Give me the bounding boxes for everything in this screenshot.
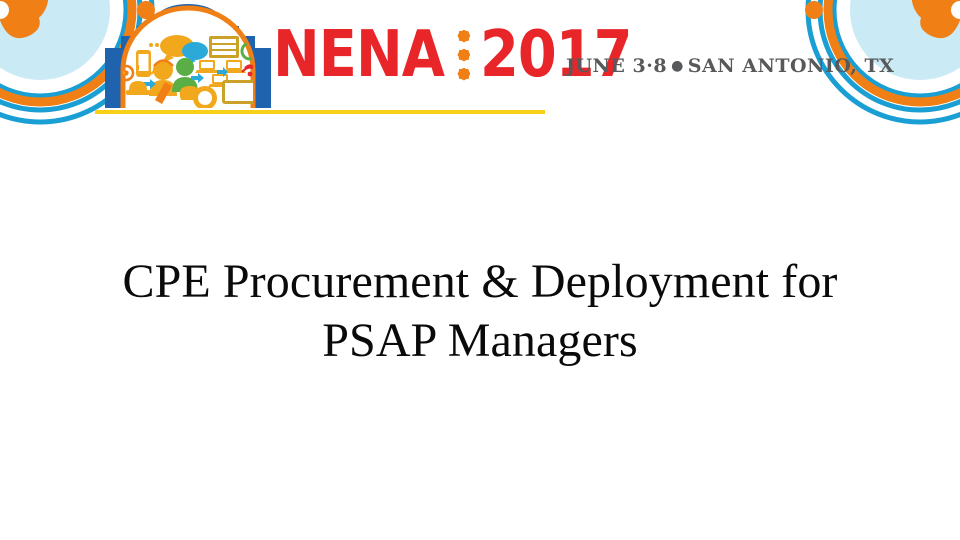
page-title-line-2: PSAP Managers	[60, 311, 900, 370]
page-title-line-1: CPE Procurement & Deployment for	[60, 252, 900, 311]
event-date-location: JUNE 3·8●SAN ANTONIO, TX	[566, 57, 894, 76]
nena-2017-logo: NENA 2017	[95, 4, 555, 116]
event-location: SAN ANTONIO, TX	[688, 55, 895, 77]
wordmark-nena: NENA	[273, 23, 444, 87]
event-dates: JUNE 3·8	[566, 55, 667, 77]
logo-underline-rule	[95, 110, 545, 114]
slide-header-banner: NENA 2017 JUNE 3·8●SAN ANTONIO, TX	[0, 0, 960, 128]
wordmark-dot-separator-icon	[453, 30, 474, 81]
page-title: CPE Procurement & Deployment for PSAP Ma…	[60, 252, 900, 370]
presentation-slide: NENA 2017 JUNE 3·8●SAN ANTONIO, TX CPE P…	[0, 0, 960, 540]
alamo-arch-technology-icons-icon	[95, 4, 281, 108]
slide-content-area: CPE Procurement & Deployment for PSAP Ma…	[0, 128, 960, 540]
event-meta-bullet-icon: ●	[667, 58, 688, 74]
